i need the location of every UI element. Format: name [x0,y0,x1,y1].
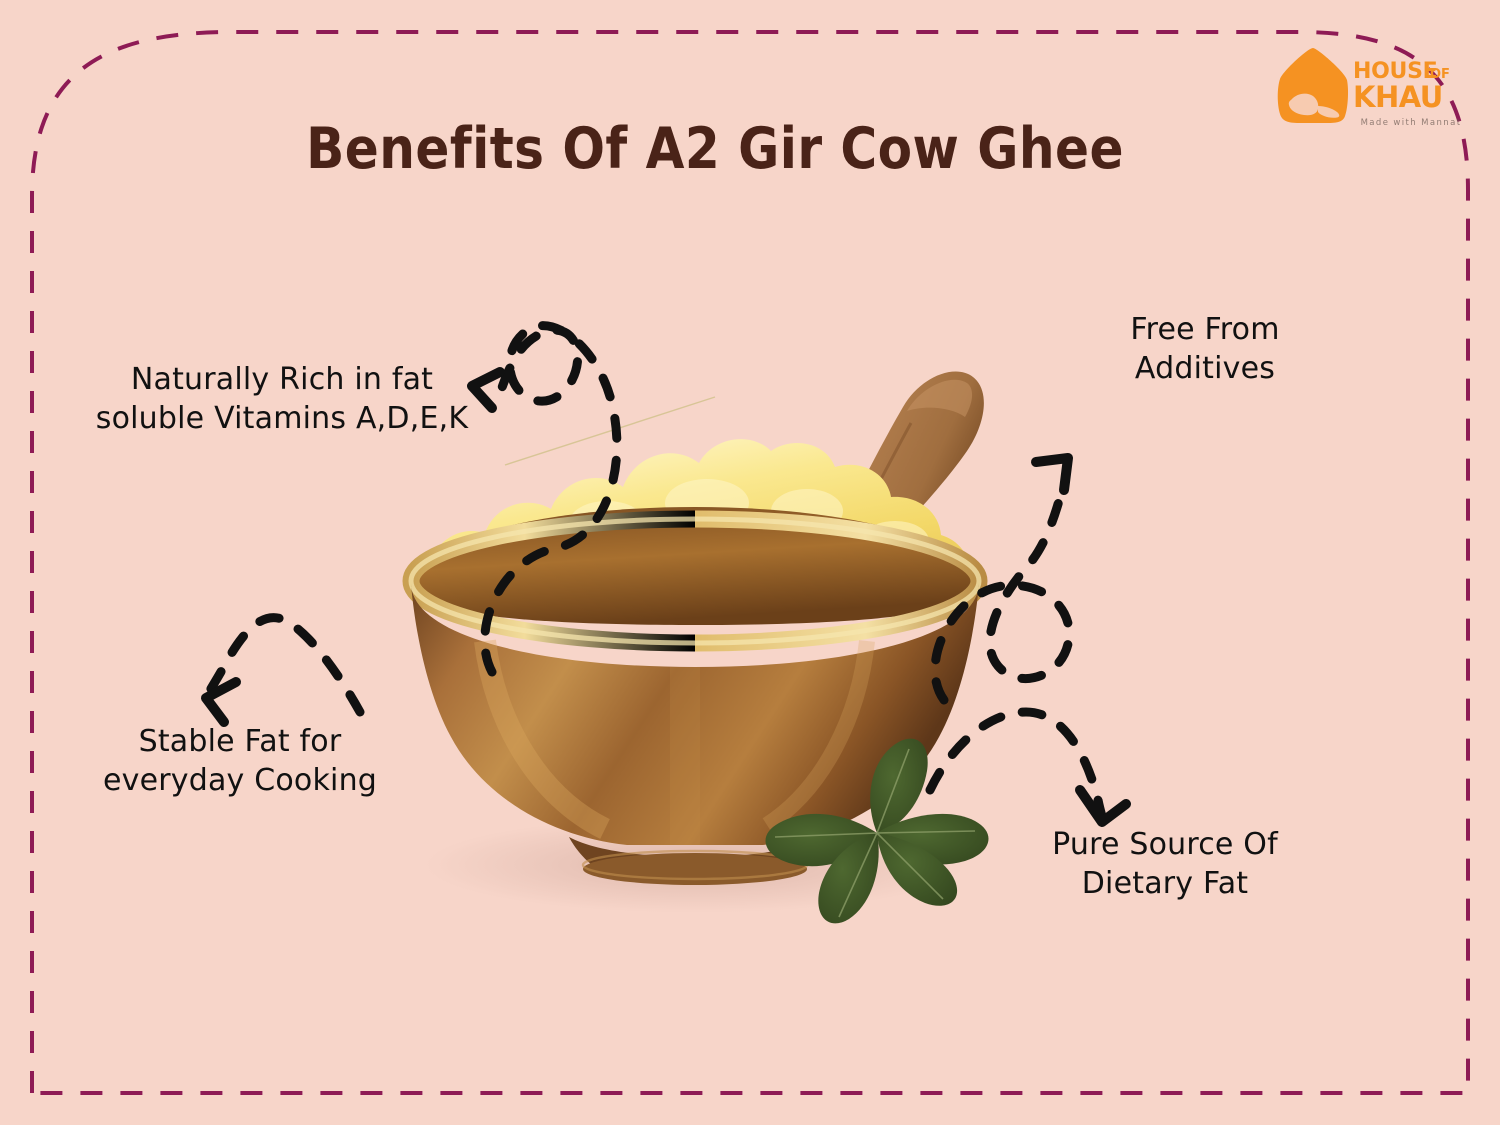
arrowhead-pure-source [1080,790,1126,822]
infographic-poster: HOUSE OF KHAU Made with Mannat Benefits … [0,0,1500,1125]
benefit-label-free-from-additives: Free From Additives [1060,310,1350,388]
brand-tagline: Made with Mannat [1355,118,1467,128]
house-cow-logo-icon [1277,46,1349,124]
benefit-label-stable-fat-everyday-cooking: Stable Fat for everyday Cooking [45,722,435,800]
svg-text:KHAU: KHAU [1353,80,1443,114]
brand-wordmark: HOUSE OF KHAU [1353,54,1467,116]
arrow-path-stable-fat [208,618,360,712]
arrowhead-free-from-additives [1036,458,1068,490]
benefit-label-pure-source-dietary-fat: Pure Source Of Dietary Fat [995,825,1335,903]
benefit-label-naturally-rich-vitamins: Naturally Rich in fat soluble Vitamins A… [72,360,492,438]
page-title: Benefits Of A2 Gir Cow Ghee [86,116,1344,182]
arrowhead-stable-fat [206,682,236,722]
